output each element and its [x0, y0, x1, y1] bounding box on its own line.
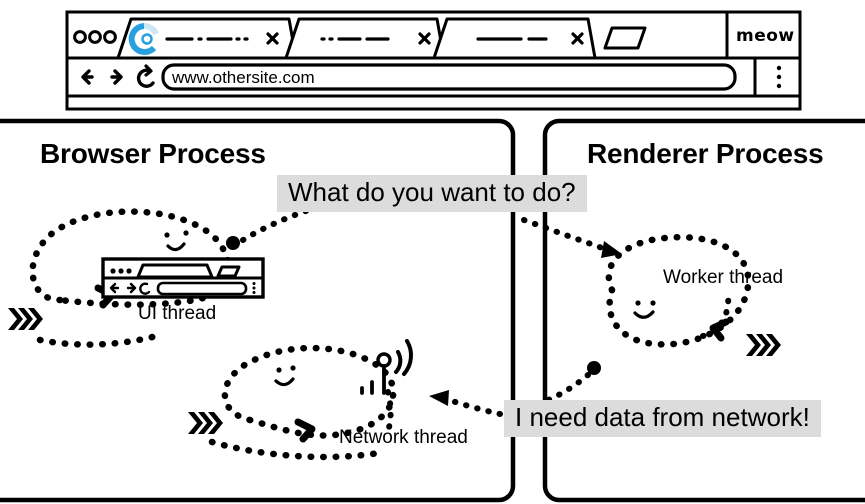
smiley-face-icon-network	[276, 365, 296, 384]
motion-chevrons-worker	[746, 334, 781, 356]
browser-window-icon	[103, 259, 263, 297]
network-thread-label: Network thread	[339, 427, 468, 449]
renderer-process-title: Renderer Process	[587, 138, 823, 170]
browser-process-title: Browser Process	[40, 138, 266, 170]
browser-brand-label: meow	[736, 26, 795, 46]
ui-thread-label: UI thread	[138, 303, 216, 325]
renderer-process-box	[545, 121, 865, 500]
worker-thread-label: Worker thread	[663, 267, 783, 289]
motion-chevrons-network	[188, 412, 223, 434]
address-bar-text[interactable]: www.othersite.com	[172, 68, 315, 88]
wifi-antenna-icon	[362, 341, 411, 393]
smiley-face-icon-worker	[635, 300, 656, 317]
worker-thread-cluster	[609, 237, 781, 356]
new-tab-icon[interactable]	[605, 28, 645, 48]
message-bubble-need-data: I need data from network!	[504, 400, 821, 437]
message-bubble-question: What do you want to do?	[277, 175, 587, 212]
toolbar-menu-button[interactable]	[777, 66, 781, 88]
tab-third[interactable]	[434, 19, 595, 58]
ui-thread-cluster	[8, 212, 263, 345]
diagram-canvas: Browser Process Renderer Process What do…	[0, 0, 865, 504]
tab-active[interactable]	[118, 19, 296, 58]
tab-second[interactable]	[286, 19, 444, 58]
window-controls[interactable]	[75, 32, 116, 43]
motion-chevrons-ui	[8, 308, 43, 330]
smiley-face-icon-ui	[164, 230, 188, 249]
